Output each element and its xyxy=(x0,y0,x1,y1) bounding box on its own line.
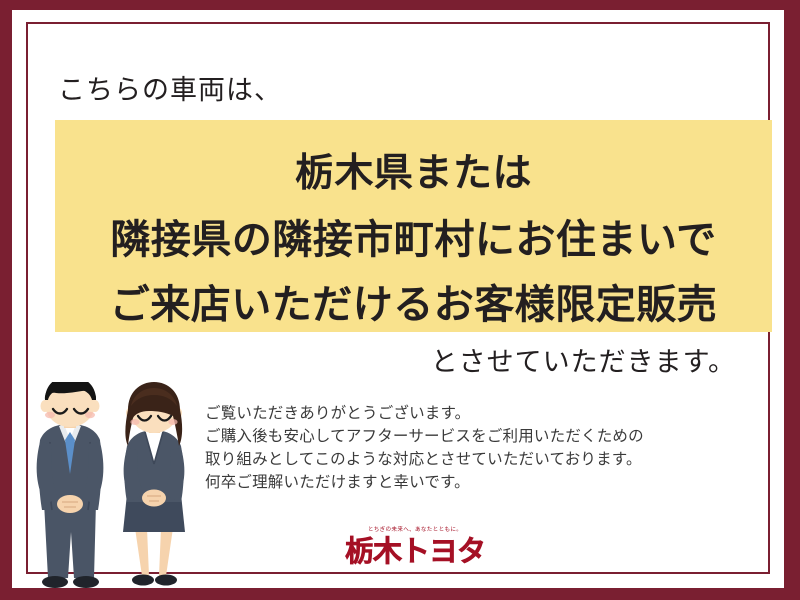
poster-frame: こちらの車両は、 栃木県または 隣接県の隣接市町村にお住まいで ご来店いただける… xyxy=(0,0,800,600)
highlight-band: 栃木県または 隣接県の隣接市町村にお住まいで ご来店いただけるお客様限定販売 xyxy=(55,120,772,332)
note-paragraph: ご覧いただきありがとうございます。 ご購入後も安心してアフターサービスをご利用い… xyxy=(205,402,644,494)
note-line-1: ご覧いただきありがとうございます。 xyxy=(205,402,644,425)
logo-wordmark: 栃木トヨタ xyxy=(330,535,500,567)
businesswoman-figure xyxy=(123,382,185,586)
highlight-line-3: ご来店いただけるお客様限定販売 xyxy=(55,272,772,330)
logo-tagline: とちぎの未来へ、あなたとともに。 xyxy=(330,526,500,534)
lead-text: こちらの車両は、 xyxy=(58,68,282,107)
note-line-2: ご購入後も安心してアフターサービスをご利用いただくための xyxy=(205,425,644,448)
businessman-figure xyxy=(37,382,104,588)
tail-text: とさせていただきます。 xyxy=(431,340,736,379)
highlight-line-2: 隣接県の隣接市町村にお住まいで xyxy=(55,207,772,265)
poster-card: こちらの車両は、 栃木県または 隣接県の隣接市町村にお住まいで ご来店いただける… xyxy=(12,10,784,588)
note-line-4: 何卒ご理解いただけますと幸いです。 xyxy=(205,471,644,494)
poster-content: こちらの車両は、 栃木県または 隣接県の隣接市町村にお住まいで ご来店いただける… xyxy=(12,10,784,588)
bowing-people-illustration xyxy=(26,382,202,596)
highlight-line-1: 栃木県または xyxy=(55,142,772,198)
note-line-3: 取り組みとしてこのような対応とさせていただいております。 xyxy=(205,448,644,471)
dealer-logo: とちぎの未来へ、あなたとともに。 栃木トヨタ xyxy=(330,526,500,567)
